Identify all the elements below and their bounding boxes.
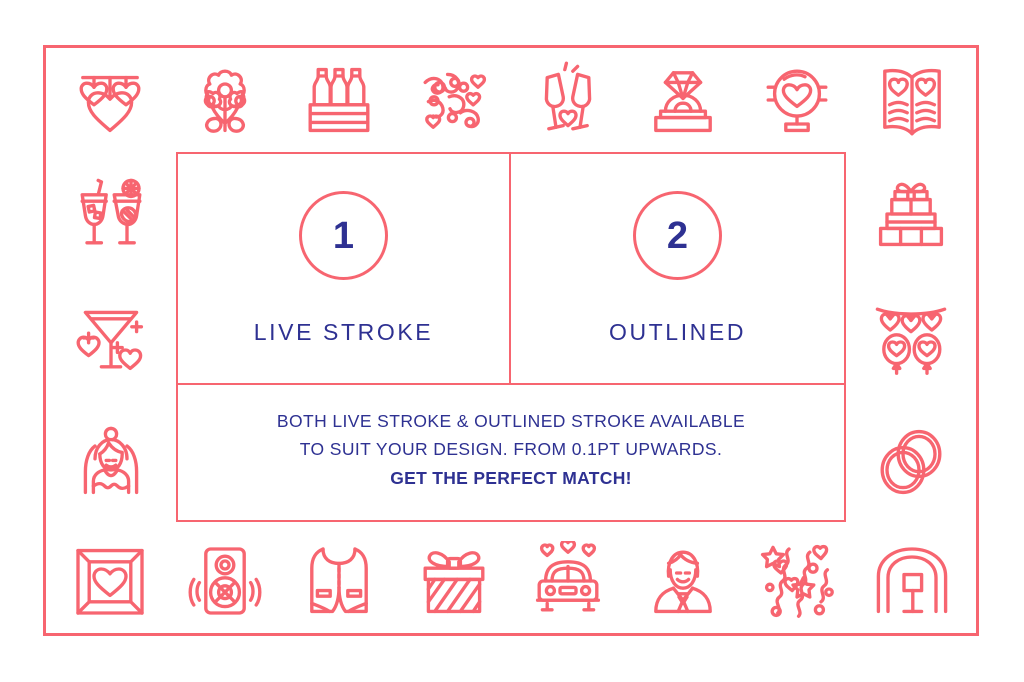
panel-option-outlined[interactable]: 2 OUTLINED xyxy=(511,154,844,383)
groom-icon xyxy=(637,537,729,625)
waistcoat-icon xyxy=(293,537,385,625)
badge-number-2: 2 xyxy=(667,217,688,255)
icon-column-right xyxy=(846,152,976,524)
stacked-gifts-icon xyxy=(865,170,957,258)
caption-line-3: GET THE PERFECT MATCH! xyxy=(277,464,745,492)
gift-bow-icon xyxy=(408,537,500,625)
flower-bouquet-icon xyxy=(179,56,271,144)
heart-mirror-icon xyxy=(751,56,843,144)
confetti-streamers-icon xyxy=(408,56,500,144)
cocktail-glasses-icon xyxy=(65,170,157,258)
panel-top-row: 1 LIVE STROKE 2 OUTLINED xyxy=(178,154,844,385)
icon-row-top xyxy=(46,48,976,152)
heart-bunting-balloons-icon xyxy=(865,294,957,382)
caption-line-1: BOTH LIVE STROKE & OUTLINED STROKE AVAIL… xyxy=(277,407,745,435)
panel-option-live-stroke[interactable]: 1 LIVE STROKE xyxy=(178,154,511,383)
open-book-hearts-icon xyxy=(866,56,958,144)
speaker-icon xyxy=(179,537,271,625)
confetti-stars-icon xyxy=(751,537,843,625)
heart-photo-frame-icon xyxy=(64,537,156,625)
badge-number-1: 1 xyxy=(333,217,354,255)
heart-garland-icon xyxy=(64,56,156,144)
martini-hearts-icon xyxy=(65,294,157,382)
bride-icon xyxy=(65,418,157,506)
wedding-rings-icon xyxy=(865,418,957,506)
panel-caption-row: BOTH LIVE STROKE & OUTLINED STROKE AVAIL… xyxy=(178,385,844,520)
champagne-toast-icon xyxy=(522,56,614,144)
poster-canvas: 1 LIVE STROKE 2 OUTLINED BOTH LIVE STROK… xyxy=(0,0,1024,682)
caption-line-2: TO SUIT YOUR DESIGN. FROM 0.1PT UPWARDS. xyxy=(277,435,745,463)
caption-block: BOTH LIVE STROKE & OUTLINED STROKE AVAIL… xyxy=(277,407,745,498)
badge-circle-1: 1 xyxy=(299,191,388,280)
panel-label-live-stroke: LIVE STROKE xyxy=(254,319,433,346)
bottle-crate-icon xyxy=(293,56,385,144)
diamond-ring-box-icon xyxy=(637,56,729,144)
icon-column-left xyxy=(46,152,176,524)
panel-label-outlined: OUTLINED xyxy=(609,319,746,346)
icon-row-bottom xyxy=(46,529,976,633)
center-panel: 1 LIVE STROKE 2 OUTLINED BOTH LIVE STROK… xyxy=(176,152,846,522)
wedding-arch-icon xyxy=(866,537,958,625)
badge-circle-2: 2 xyxy=(633,191,722,280)
wedding-car-icon xyxy=(522,537,614,625)
